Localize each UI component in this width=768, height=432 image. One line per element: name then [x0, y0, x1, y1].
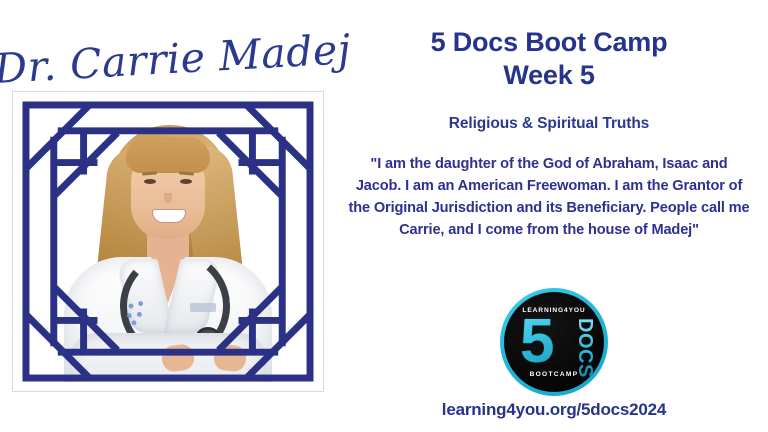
coat-name-badge — [190, 303, 216, 312]
title-line-1: 5 Docs Boot Camp — [431, 27, 668, 57]
mouth-smile — [152, 209, 186, 223]
logo-disc: LEARNING4YOU 5 DOCS BOOTCAMP — [504, 292, 604, 392]
subtitle: Religious & Spiritual Truths — [348, 115, 750, 133]
portrait-frame-card — [12, 91, 324, 392]
logo-numeral-five: 5 — [520, 311, 554, 373]
portrait-illustration — [22, 101, 314, 382]
portrait-photo — [22, 101, 314, 382]
website-url[interactable]: learning4you.org/5docs2024 — [340, 400, 768, 420]
signature-dr-carrie-madej: Dr. Carrie Madej — [29, 22, 317, 96]
slide-canvas: Dr. Carrie Madej — [0, 0, 768, 432]
five-docs-bootcamp-logo: LEARNING4YOU 5 DOCS BOOTCAMP — [500, 288, 608, 396]
quote-text: "I am the daughter of the God of Abraham… — [348, 153, 750, 242]
nose — [164, 193, 172, 203]
title-line-2: Week 5 — [348, 59, 750, 92]
right-panel: 5 Docs Boot Camp Week 5 Religious & Spir… — [340, 0, 768, 432]
page-title: 5 Docs Boot Camp Week 5 — [348, 26, 750, 92]
hand-right — [213, 343, 248, 372]
left-panel: Dr. Carrie Madej — [0, 0, 340, 432]
logo-word-docs: DOCS — [575, 318, 595, 378]
logo-bottom-text: BOOTCAMP — [504, 371, 604, 378]
hair-fringe — [126, 137, 210, 173]
coat-embroidery — [122, 297, 152, 327]
eye-right — [180, 179, 192, 184]
eye-left — [144, 179, 156, 184]
